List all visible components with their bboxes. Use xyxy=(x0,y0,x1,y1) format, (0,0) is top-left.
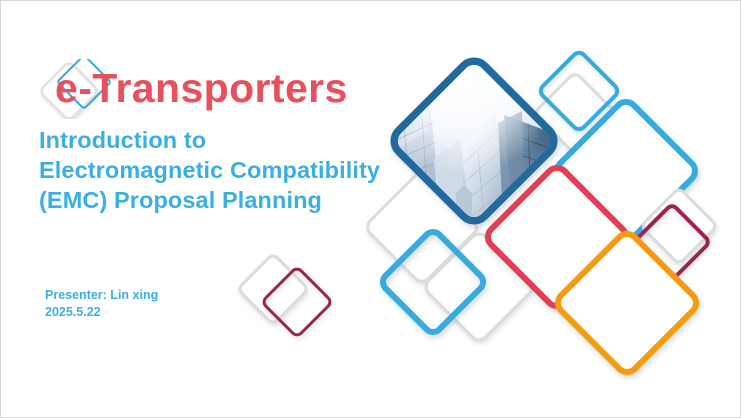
diamond-cyan-lower-left xyxy=(379,228,486,335)
brand-logo[interactable]: e-Transporters xyxy=(39,59,439,119)
logo-word-transporters: Transporters xyxy=(92,65,347,111)
logo-letter-e: e xyxy=(55,65,78,111)
title-line-1: Introduction to xyxy=(39,125,439,155)
diamond-gray-top-small xyxy=(534,72,616,154)
presenter-block: Presenter: Lin xing 2025.5.22 xyxy=(45,287,158,321)
title-line-2: Electromagnetic Compatibility xyxy=(39,155,439,185)
slide-canvas: e-Transporters Introduction to Electroma… xyxy=(1,1,740,417)
logo-wordmark: e-Transporters xyxy=(55,60,348,116)
presenter-name: Presenter: Lin xing xyxy=(45,287,158,304)
diamond-gray-right-small xyxy=(641,188,717,264)
diamond-gray-bottom-left xyxy=(238,254,309,325)
title-text-block: e-Transporters Introduction to Electroma… xyxy=(39,59,439,215)
diamond-cyan-large xyxy=(552,97,699,244)
diamond-gray-lower-mid xyxy=(422,230,535,343)
diamond-orange xyxy=(553,229,700,376)
diamond-maroon-right xyxy=(634,204,710,280)
diamond-red xyxy=(483,163,630,310)
diamond-maroon-bottom-left xyxy=(262,267,333,338)
presentation-slide: e-Transporters Introduction to Electroma… xyxy=(0,0,741,418)
page-title: Introduction to Electromagnetic Compatib… xyxy=(39,125,439,215)
diamond-cyan-top-small xyxy=(538,50,620,132)
title-line-3: (EMC) Proposal Planning xyxy=(39,185,439,215)
presentation-date: 2025.5.22 xyxy=(45,304,158,321)
logo-dash: - xyxy=(78,65,92,111)
